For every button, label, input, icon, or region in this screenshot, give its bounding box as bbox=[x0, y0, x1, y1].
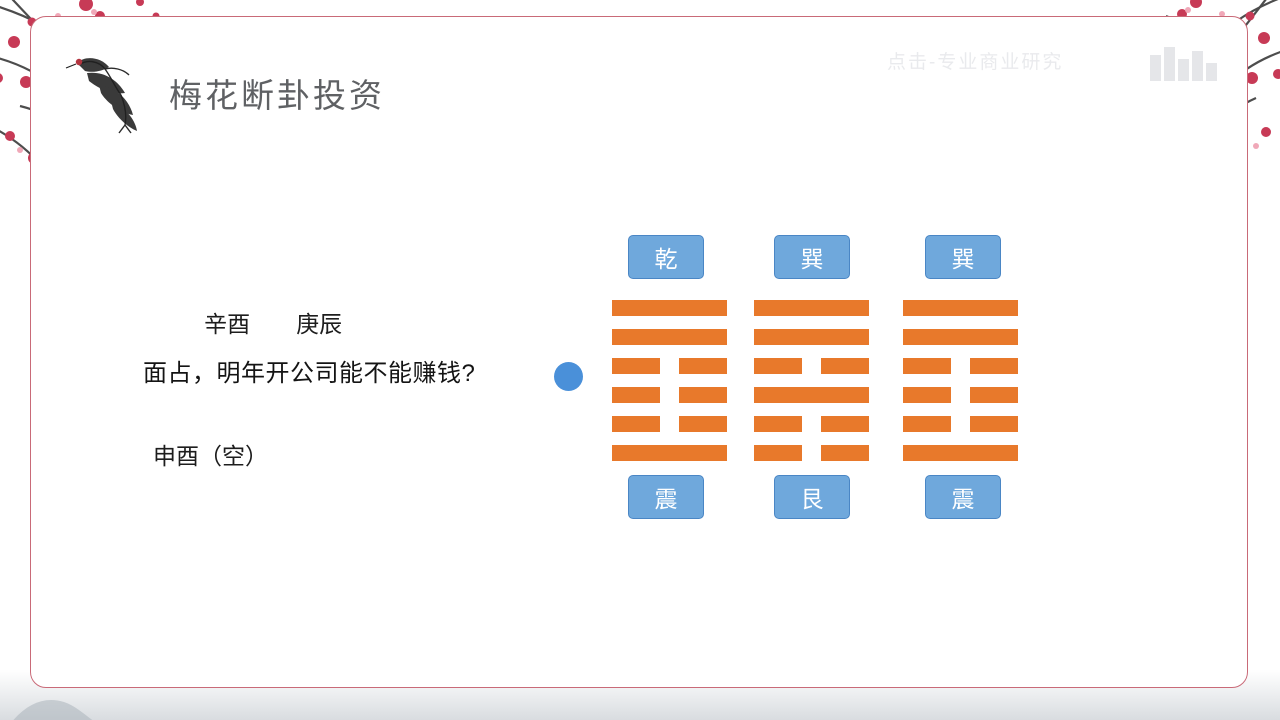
hexagram-lines-3 bbox=[903, 300, 1023, 461]
slide-stage: 梅花断卦投资 点击-专业商业研究 辛酉庚辰 申酉（空） 面占，明年开公司能不能赚… bbox=[0, 0, 1280, 720]
hexagram-column-3: 巽 震 bbox=[903, 235, 1023, 519]
hexagram-diagram: 乾 震 巽 bbox=[606, 235, 1036, 545]
hexagram-line bbox=[612, 358, 726, 374]
hexagram-lines-2 bbox=[754, 300, 872, 461]
ganzhi-right: 庚辰 bbox=[296, 311, 342, 337]
hexagram-line bbox=[754, 358, 872, 374]
trigram-label-top-3: 巽 bbox=[925, 235, 1001, 279]
hexagram-lines-1 bbox=[612, 300, 726, 461]
trigram-label-bottom-1: 震 bbox=[628, 475, 704, 519]
hexagram-column-1: 乾 震 bbox=[606, 235, 726, 519]
hexagram-line bbox=[612, 329, 726, 345]
slide-card: 梅花断卦投资 点击-专业商业研究 辛酉庚辰 申酉（空） 面占，明年开公司能不能赚… bbox=[30, 16, 1248, 688]
blue-dot-marker bbox=[554, 362, 583, 391]
hexagram-column-2: 巽 艮 bbox=[752, 235, 872, 519]
trigram-label-top-2: 巽 bbox=[774, 235, 850, 279]
hexagram-line bbox=[754, 300, 872, 316]
hexagram-line bbox=[754, 445, 872, 461]
hexagram-line bbox=[903, 387, 1023, 403]
watermark-text: 点击-专业商业研究 bbox=[887, 47, 1063, 74]
hexagram-line bbox=[612, 387, 726, 403]
watermark: 点击-专业商业研究 bbox=[887, 41, 1217, 83]
hexagram-line bbox=[903, 300, 1023, 316]
ganzhi-row-2: 申酉（空） bbox=[153, 440, 342, 473]
hexagram-line bbox=[754, 416, 872, 432]
hexagram-line bbox=[903, 358, 1023, 374]
question-text: 面占，明年开公司能不能赚钱? bbox=[143, 353, 475, 388]
hexagram-line bbox=[612, 300, 726, 316]
trigram-label-top-1: 乾 bbox=[628, 235, 704, 279]
hexagram-line bbox=[903, 445, 1023, 461]
crane-logo-icon bbox=[59, 51, 155, 135]
hexagram-line bbox=[612, 416, 726, 432]
ganzhi-left: 辛酉 bbox=[204, 311, 250, 337]
hexagram-line bbox=[754, 329, 872, 345]
trigram-label-bottom-2: 艮 bbox=[774, 475, 850, 519]
bilibili-logo-icon bbox=[1150, 41, 1217, 81]
hexagram-line bbox=[903, 329, 1023, 345]
hexagram-line bbox=[903, 416, 1023, 432]
hexagram-line bbox=[754, 387, 872, 403]
hexagram-line bbox=[612, 445, 726, 461]
page-title: 梅花断卦投资 bbox=[169, 69, 385, 117]
trigram-label-bottom-3: 震 bbox=[925, 475, 1001, 519]
